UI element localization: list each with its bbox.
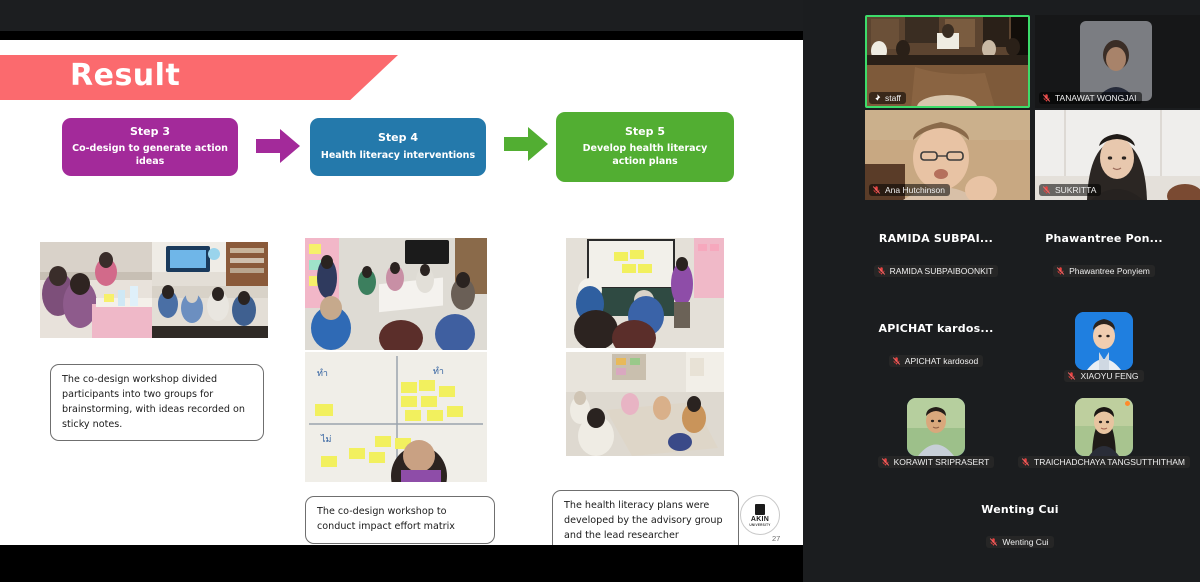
logo-line-1: AKIN	[751, 516, 769, 523]
participant-display-name: RAMIDA SUBPAI...	[879, 232, 993, 245]
participant-display-name: APICHAT kardos...	[878, 322, 993, 335]
step-box-3: Step 3 Co-design to generate action idea…	[62, 118, 238, 176]
step-4-title: Step 4	[378, 131, 418, 145]
name-badge-traichadchaya: TRAICHADCHAYA TANGSUTTHITHAM	[1018, 456, 1190, 468]
avatar	[907, 398, 965, 456]
avatar	[1075, 398, 1133, 456]
name-badge-xiaoyu-feng: XIAOYU FENG	[1064, 370, 1143, 382]
step-5-subtitle: Develop health literacy action plans	[566, 143, 724, 169]
mic-off-icon	[1042, 93, 1051, 103]
name-label: SUKRITTA	[1055, 185, 1096, 195]
video-tile-staff[interactable]: staff	[865, 15, 1030, 108]
photo-step5-top	[566, 238, 724, 348]
svg-text:ทำ: ทำ	[317, 368, 328, 378]
slide-title: Result	[70, 58, 180, 93]
name-label: Ana Hutchinson	[885, 185, 945, 195]
name-label: TANAWAT WONGJAI	[1055, 93, 1137, 103]
caption-step4: The co-design workshop to conduct impact…	[305, 496, 495, 544]
participant-display-name: Phawantree Pon...	[1045, 232, 1163, 245]
screen-share-region[interactable]: Result Step 3 Co-design to generate acti…	[0, 0, 803, 582]
participant-display-name: Wenting Cui	[981, 503, 1058, 516]
share-letterbox-bottom	[0, 545, 803, 582]
participant-panel: staff TANAWAT WONGJAI	[803, 0, 1200, 582]
name-badge-phawantree: Phawantree Ponyiem	[1053, 265, 1155, 277]
slide-page-number: 27	[772, 534, 780, 543]
name-label: Wenting Cui	[1002, 537, 1048, 547]
name-label: TRAICHADCHAYA TANGSUTTHITHAM	[1034, 457, 1185, 467]
mic-off-icon	[989, 537, 998, 547]
svg-text:ทำ: ทำ	[433, 366, 444, 376]
mic-off-icon	[1021, 457, 1030, 467]
name-badge-apichat: APICHAT kardosod	[889, 355, 983, 367]
name-label: Phawantree Ponyiem	[1069, 266, 1150, 276]
caption-step3: The co-design workshop divided participa…	[50, 364, 264, 441]
name-badge-ramida: RAMIDA SUBPAIBOONKIT	[874, 265, 999, 277]
slide-banner	[0, 55, 398, 100]
photo-step3-left	[40, 242, 152, 338]
mic-off-icon	[877, 266, 886, 276]
svg-text:ไม่: ไม่	[320, 434, 332, 444]
name-badge-wenting-cui: Wenting Cui	[986, 536, 1053, 548]
share-top-bar	[0, 0, 803, 31]
step-box-5: Step 5 Develop health literacy action pl…	[556, 112, 734, 182]
name-label: XIAOYU FENG	[1080, 371, 1138, 381]
status-dot-icon	[1125, 401, 1130, 406]
step-4-subtitle: Health literacy interventions	[321, 150, 475, 163]
step-box-4: Step 4 Health literacy interventions	[310, 118, 486, 176]
deakin-logo-icon: AKIN UNIVERSITY	[740, 495, 780, 535]
step-3-title: Step 3	[130, 125, 170, 139]
mic-off-icon	[1067, 371, 1076, 381]
name-badge-ana-hutchinson: Ana Hutchinson	[869, 184, 950, 196]
logo-mark-icon	[755, 504, 765, 515]
presentation-slide: Result Step 3 Co-design to generate acti…	[0, 40, 803, 545]
photo-step5-bottom	[566, 352, 724, 456]
avatar	[1075, 312, 1133, 370]
participant-phawantree[interactable]: Phawantree Pon... Phawantree Ponyiem	[1009, 232, 1199, 277]
slide-footer: AKIN UNIVERSITY 27	[740, 495, 792, 535]
photo-step4-bottom: ทำ ทำ ไม่	[305, 352, 487, 482]
mic-off-icon	[881, 457, 890, 467]
logo-line-2: UNIVERSITY	[749, 523, 770, 527]
name-badge-korawit: KORAWIT SRIPRASERT	[878, 456, 995, 468]
meeting-window: Result Step 3 Co-design to generate acti…	[0, 0, 1200, 582]
participant-xiaoyu-feng[interactable]: XIAOYU FENG	[1009, 312, 1199, 382]
mic-off-icon	[1042, 185, 1051, 195]
step-5-title: Step 5	[625, 125, 665, 139]
arrow-right-icon	[504, 127, 548, 161]
participant-traichadchaya[interactable]: TRAICHADCHAYA TANGSUTTHITHAM	[1009, 398, 1199, 468]
participant-korawit[interactable]: KORAWIT SRIPRASERT	[841, 398, 1031, 468]
name-label: APICHAT kardosod	[905, 356, 978, 366]
photo-step3-right	[152, 242, 268, 338]
participant-wenting-cui[interactable]: Wenting Cui Wenting Cui	[925, 503, 1115, 548]
pin-icon	[872, 93, 881, 103]
name-label: RAMIDA SUBPAIBOONKIT	[890, 266, 994, 276]
name-label: KORAWIT SRIPRASERT	[894, 457, 990, 467]
name-badge-sukritta: SUKRITTA	[1039, 184, 1101, 196]
video-tile-sukritta[interactable]: SUKRITTA	[1035, 110, 1200, 200]
arrow-right-icon	[256, 129, 300, 163]
participant-apichat[interactable]: APICHAT kardos... APICHAT kardosod	[841, 322, 1031, 367]
name-badge-tanawat: TANAWAT WONGJAI	[1039, 92, 1142, 104]
mic-off-icon	[892, 356, 901, 366]
participant-ramida[interactable]: RAMIDA SUBPAI... RAMIDA SUBPAIBOONKIT	[841, 232, 1031, 277]
photo-step4-top	[305, 238, 487, 350]
mic-off-icon	[872, 185, 881, 195]
step-3-subtitle: Co-design to generate action ideas	[72, 143, 228, 169]
name-label: staff	[885, 93, 901, 103]
video-tile-tanawat[interactable]: TANAWAT WONGJAI	[1035, 15, 1200, 108]
caption-step5: The health literacy plans were developed…	[552, 490, 739, 545]
video-tile-ana-hutchinson[interactable]: Ana Hutchinson	[865, 110, 1030, 200]
name-badge-staff: staff	[869, 92, 906, 104]
mic-off-icon	[1056, 266, 1065, 276]
